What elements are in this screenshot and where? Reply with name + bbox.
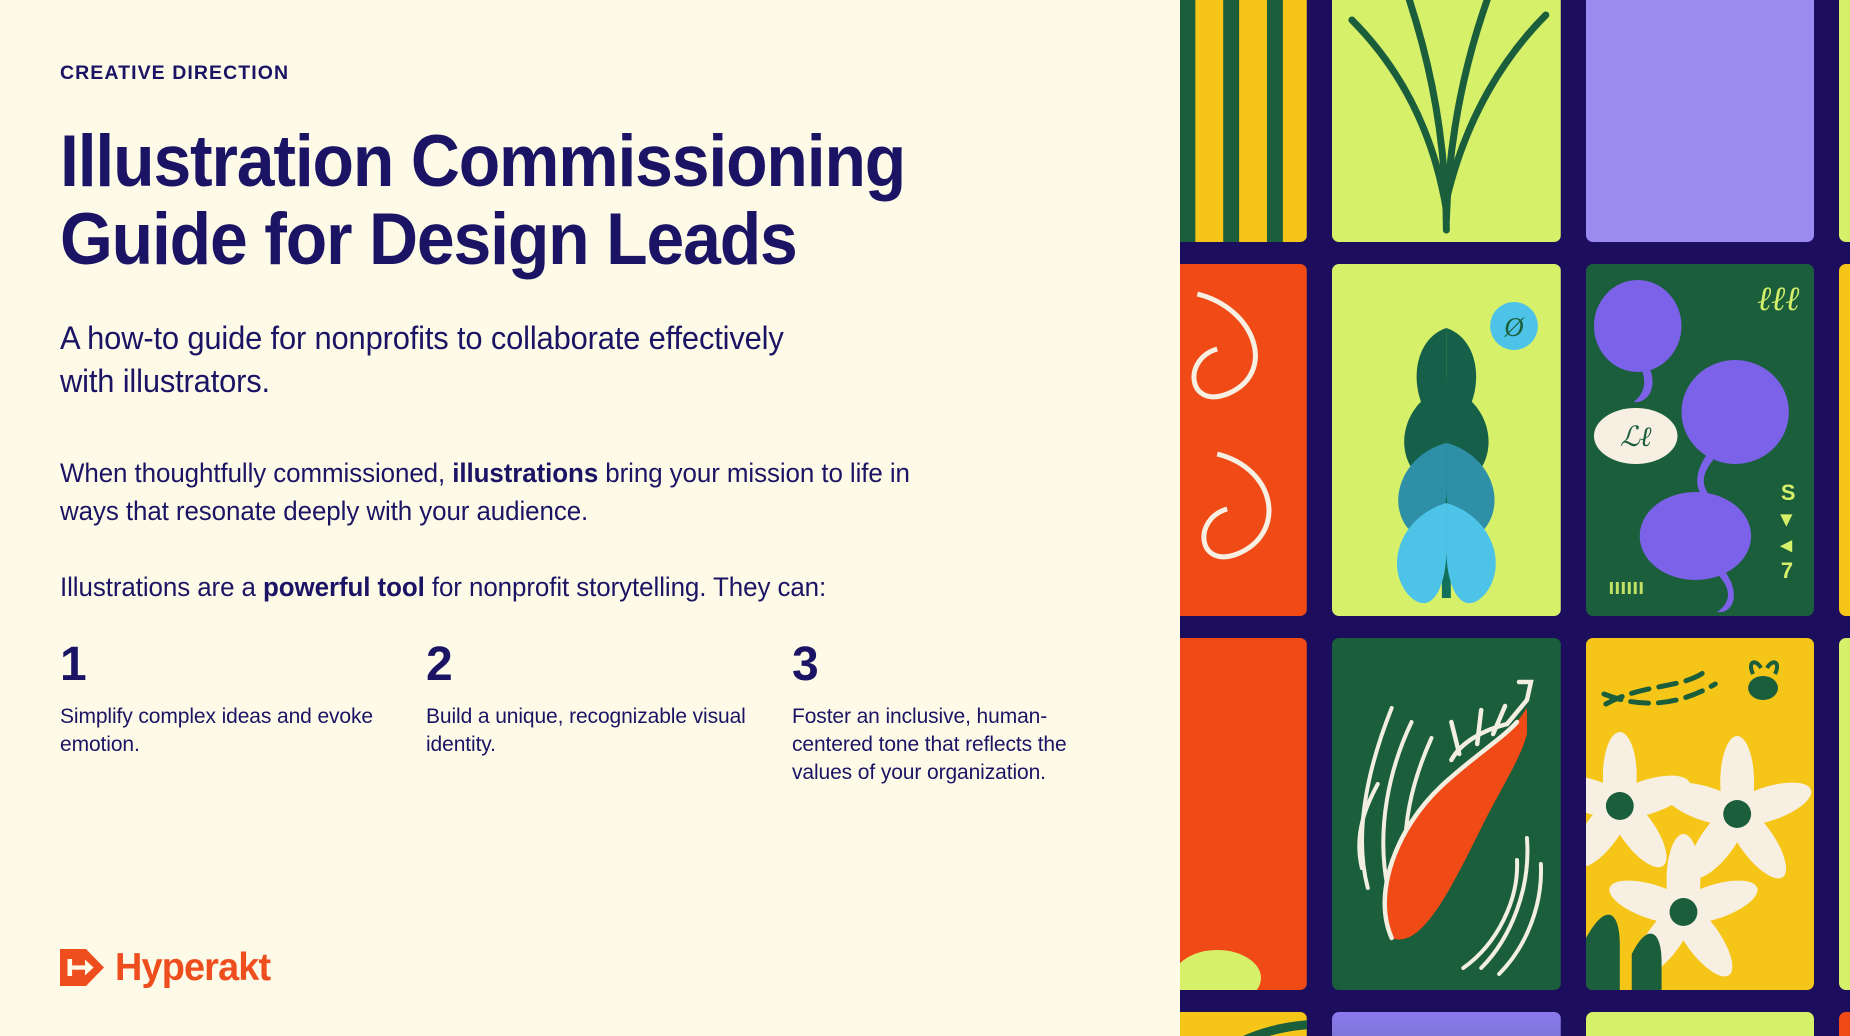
seed-packet-tile xyxy=(1180,264,1307,616)
svg-text:ℓℓℓ: ℓℓℓ xyxy=(1757,281,1799,318)
benefit-item: 2 Build a unique, recognizable visual id… xyxy=(426,641,792,788)
seed-packet-tile xyxy=(1839,264,1850,616)
seed-packet-tile: ℓℓℓℓ xyxy=(1839,1012,1850,1036)
seed-packet-tile xyxy=(1839,0,1850,242)
subtitle: A how-to guide for nonprofits to collabo… xyxy=(60,317,820,403)
benefit-number: 1 xyxy=(60,641,390,689)
benefit-columns: 1 Simplify complex ideas and evoke emoti… xyxy=(60,641,1070,788)
paragraph-2-emphasis: powerful tool xyxy=(263,572,425,602)
paragraph-2-after: for nonprofit storytelling. They can: xyxy=(425,572,826,602)
eyebrow-label: CREATIVE DIRECTION xyxy=(60,62,1180,85)
seed-packet-tile xyxy=(1180,1012,1307,1036)
poster-root: CREATIVE DIRECTION Illustration Commissi… xyxy=(0,0,1850,1036)
paragraph-2-before: Illustrations are a xyxy=(60,572,263,602)
hyperakt-arrow-icon xyxy=(60,949,104,986)
svg-text:Ø: Ø xyxy=(1503,312,1525,342)
svg-text:▾: ▾ xyxy=(1779,506,1792,531)
seed-packet-tile xyxy=(1332,0,1561,242)
body-paragraph-1: When thoughtfully commissioned, illustra… xyxy=(60,454,924,531)
hyperakt-logo[interactable]: Hyperakt xyxy=(60,948,275,987)
svg-text:S: S xyxy=(1780,480,1795,505)
seed-packet-tile xyxy=(1332,638,1561,990)
benefit-text: Build a unique, recognizable visual iden… xyxy=(426,703,756,760)
benefit-text: Simplify complex ideas and evoke emotion… xyxy=(60,703,390,760)
content-panel: CREATIVE DIRECTION Illustration Commissi… xyxy=(0,0,1180,1036)
benefit-text: Foster an inclusive, human-centered tone… xyxy=(792,703,1086,788)
seed-packet-tile xyxy=(1839,638,1850,990)
illustration-panel: Ø ℒℓ ℓℓℓ xyxy=(1180,0,1850,1036)
seed-packet-grid: Ø ℒℓ ℓℓℓ xyxy=(1180,0,1850,1036)
benefit-number: 2 xyxy=(426,641,756,689)
seed-packet-tile xyxy=(1180,638,1307,990)
seed-packet-tile xyxy=(1180,0,1307,242)
hyperakt-wordmark: Hyperakt xyxy=(115,948,270,987)
benefit-item: 1 Simplify complex ideas and evoke emoti… xyxy=(60,641,426,788)
benefit-item: 3 Foster an inclusive, human-centered to… xyxy=(792,641,1122,788)
page-title: Illustration Commissioning Guide for Des… xyxy=(60,123,1018,279)
body-paragraph-2: Illustrations are a powerful tool for no… xyxy=(60,568,924,606)
seed-packet-tile: ℒℓ ℓℓℓ S▾ ◂7 xyxy=(1586,264,1815,616)
seed-packet-tile xyxy=(1586,1012,1815,1036)
benefit-number: 3 xyxy=(792,641,1086,689)
svg-text:ℒℓ: ℒℓ xyxy=(1619,422,1651,453)
seed-packet-tile: grass xyxy=(1332,1012,1561,1036)
paragraph-1-emphasis: illustrations xyxy=(452,458,598,488)
seed-packet-tile: Ø xyxy=(1332,264,1561,616)
seed-packet-tile xyxy=(1586,0,1815,242)
seed-packet-tile xyxy=(1586,638,1815,990)
svg-text:7: 7 xyxy=(1780,558,1792,583)
svg-text:◂: ◂ xyxy=(1779,532,1792,557)
paragraph-1-before: When thoughtfully commissioned, xyxy=(60,458,452,488)
